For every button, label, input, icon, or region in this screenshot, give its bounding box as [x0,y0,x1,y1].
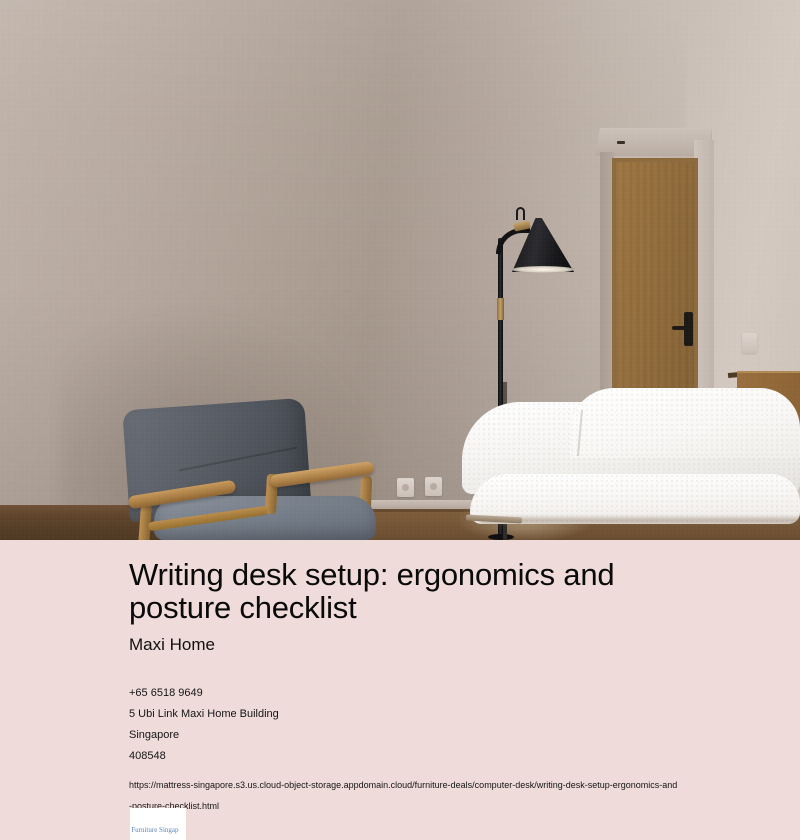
floor-lamp-brass-collar [497,298,504,320]
contact-postal-code: 408548 [129,746,789,767]
partner-logo-label: d Furniture Singap [130,826,179,835]
light-switch [742,333,757,353]
white-boucle-sofa [462,388,800,540]
sofa-back-hump [570,388,800,458]
wall-outlet [425,477,442,496]
page-root: Writing desk setup: ergonomics and postu… [0,0,800,840]
grey-armchair [120,404,376,540]
contact-phone: +65 6518 9649 [129,683,789,704]
floor-lamp-hook [516,207,525,220]
sofa-under-shadow [480,518,800,528]
info-content: Writing desk setup: ergonomics and postu… [129,558,789,817]
brand-name: Maxi Home [129,635,789,655]
contact-city: Singapore [129,725,789,746]
page-title: Writing desk setup: ergonomics and postu… [129,558,669,624]
source-url[interactable]: https://mattress-singapore.s3.us.cloud-o… [129,775,800,817]
source-url-line-1: https://mattress-singapore.s3.us.cloud-o… [129,775,800,796]
contact-address: 5 Ubi Link Maxi Home Building [129,704,789,725]
contact-block: +65 6518 9649 5 Ubi Link Maxi Home Build… [129,683,789,767]
hero-photo [0,0,800,540]
door-lever [672,326,686,330]
partner-logo-card[interactable]: d Furniture Singap [130,808,186,840]
floor-lamp-rim-light [512,266,574,273]
wall-outlet [397,478,414,497]
info-panel: Writing desk setup: ergonomics and postu… [0,540,800,840]
door-hinge [617,141,625,144]
source-url-line-2: -posture-checklist.html [129,796,800,817]
